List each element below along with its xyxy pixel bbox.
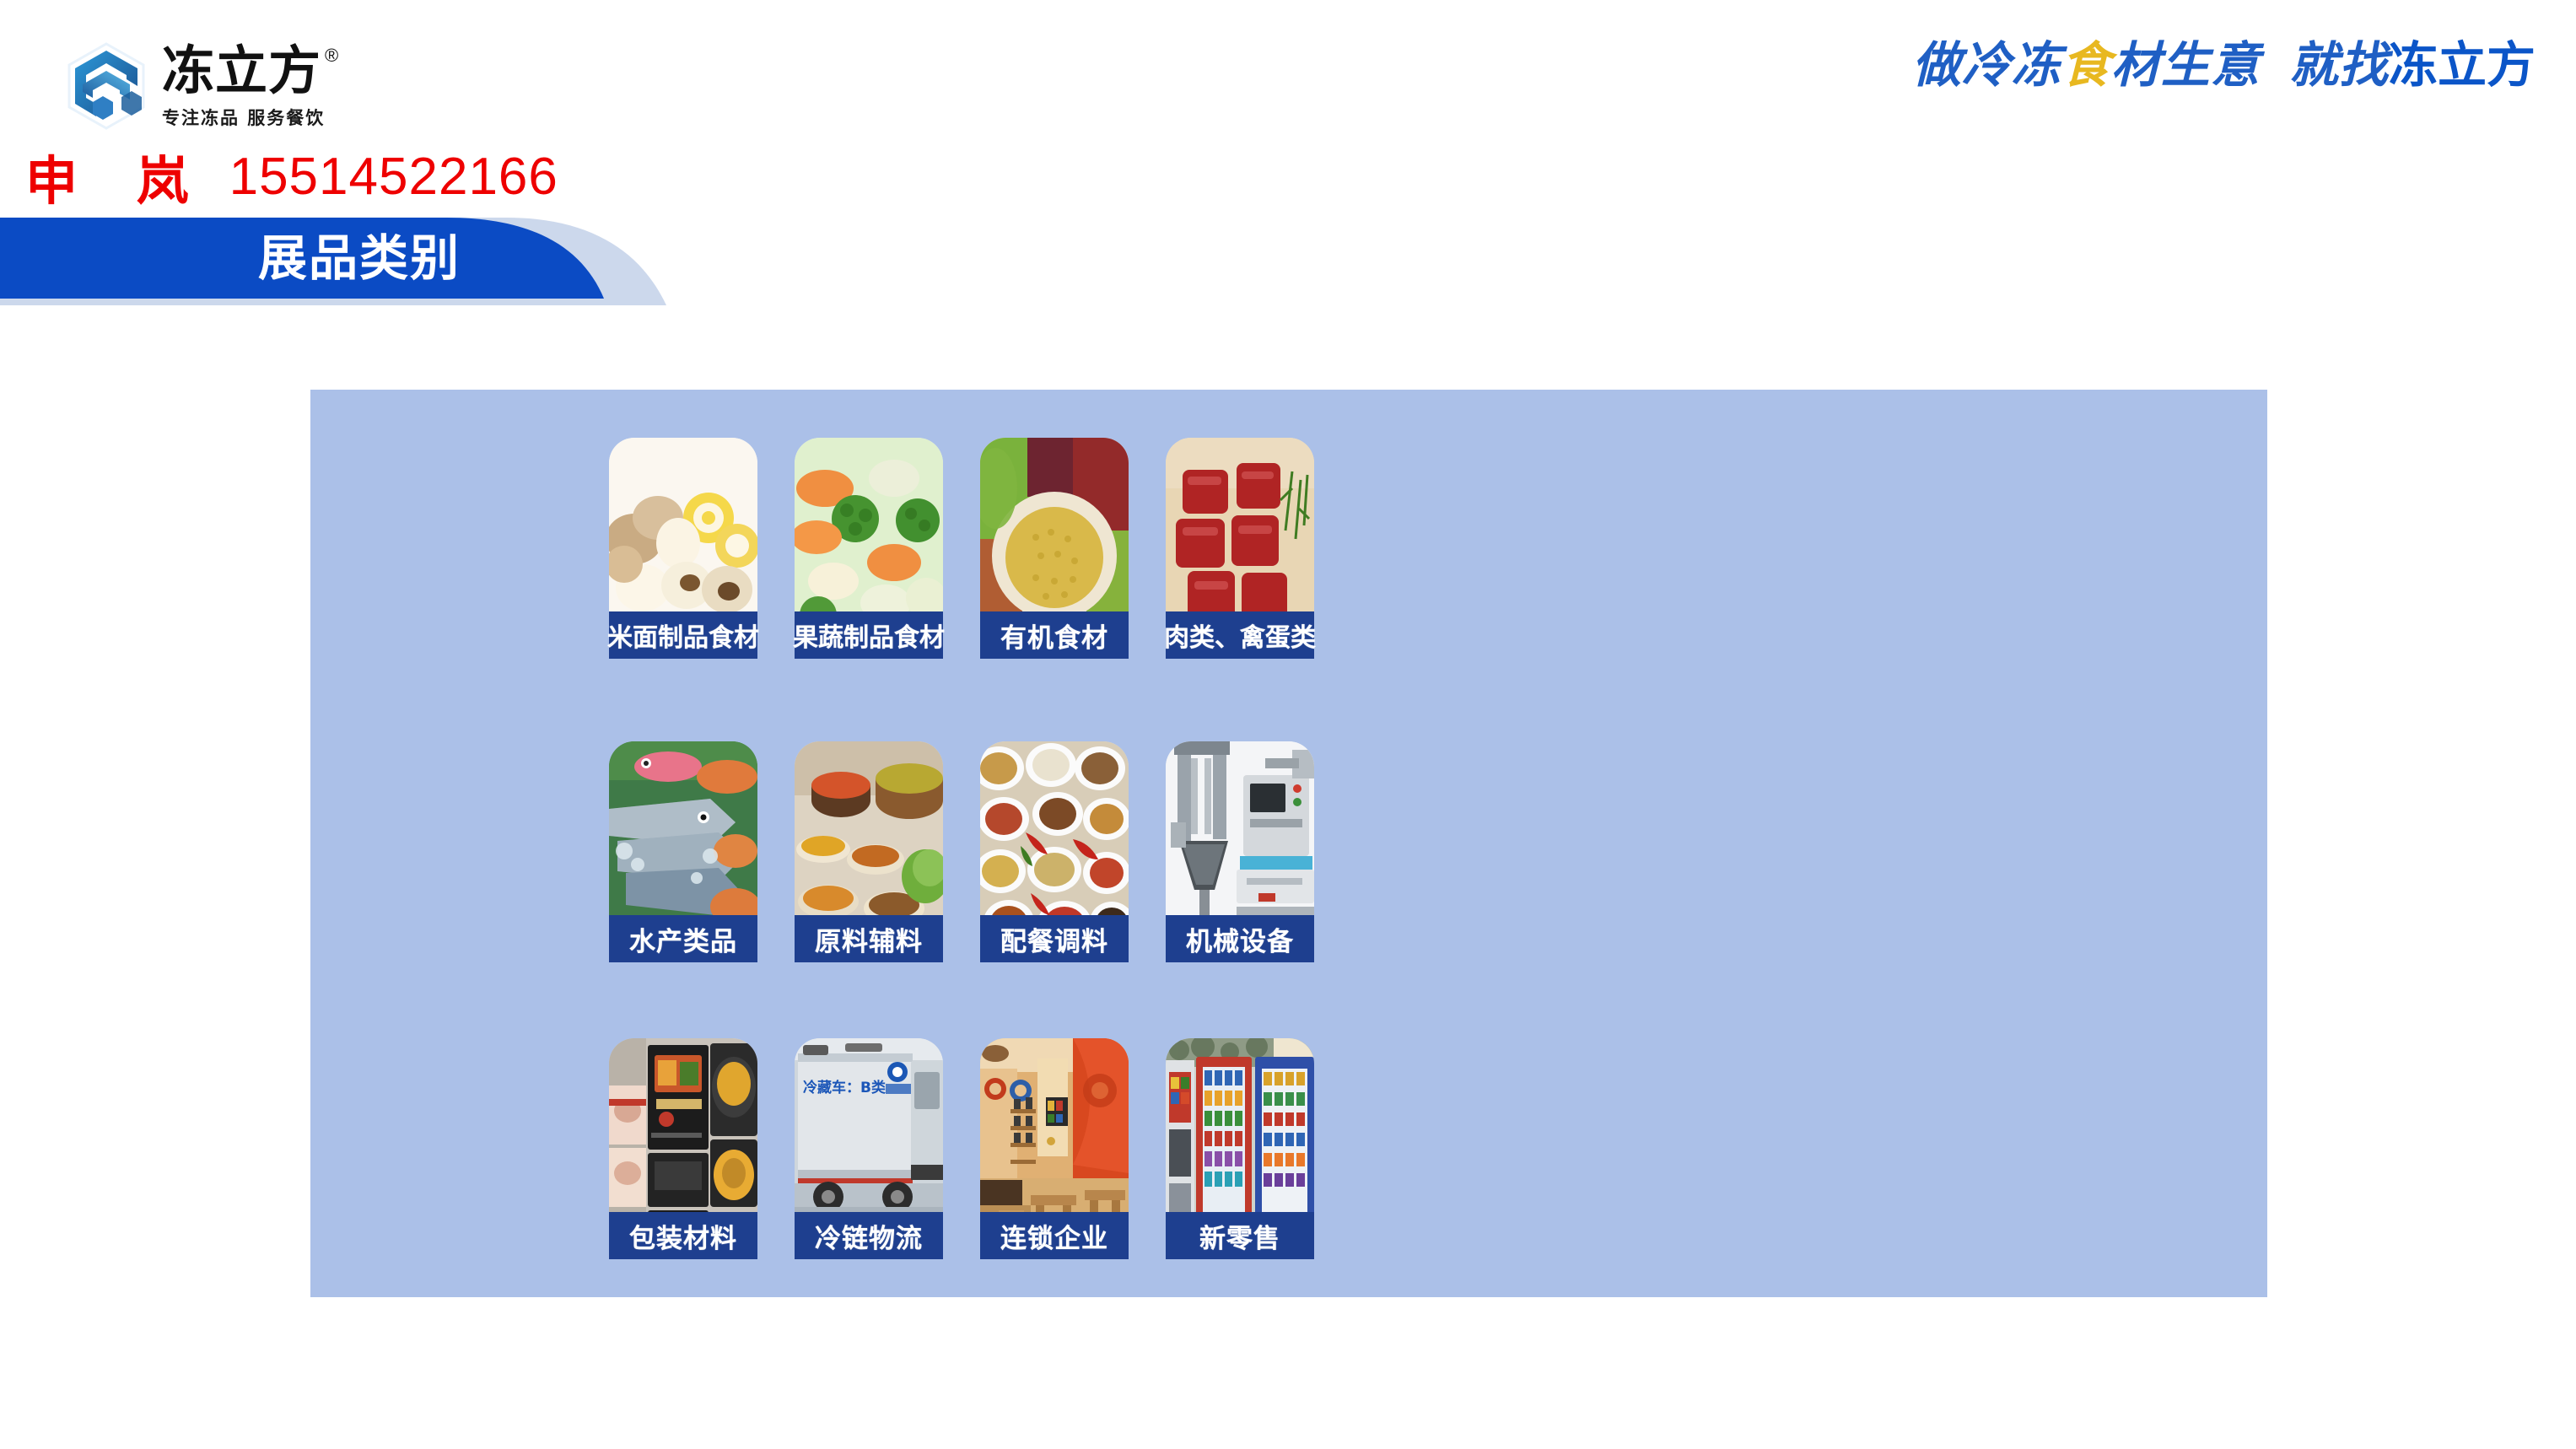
- category-card[interactable]: 配餐调料: [980, 741, 1129, 962]
- cube-logo-icon: [59, 39, 154, 133]
- category-card[interactable]: 冷藏车：B类 冷链物流: [795, 1038, 943, 1259]
- brand-logo[interactable]: 冻立方 ® 专注冻品 服务餐饮: [59, 39, 338, 133]
- category-label: 肉类、禽蛋类: [1166, 611, 1314, 659]
- category-label: 新零售: [1166, 1212, 1314, 1259]
- tagline-part1: 做冷冻: [1912, 25, 2061, 96]
- logo-wordmark: 冻立方: [162, 45, 321, 97]
- contact-phone: 15514522166: [229, 147, 558, 207]
- category-card[interactable]: 新零售: [1166, 1038, 1314, 1259]
- category-label: 配餐调料: [980, 915, 1129, 962]
- truck-side-text: 冷藏车：B类: [803, 1075, 886, 1096]
- category-label: 果蔬制品食材: [795, 611, 943, 659]
- category-label: 水产类品: [609, 915, 757, 962]
- category-label: 连锁企业: [980, 1212, 1129, 1259]
- section-banner: 展品类别: [0, 218, 692, 305]
- category-label: 机械设备: [1166, 915, 1314, 962]
- category-label: 冷链物流: [795, 1212, 943, 1259]
- contact-name: 申 岚: [25, 138, 209, 214]
- category-card[interactable]: 肉类、禽蛋类: [1166, 438, 1314, 659]
- brand-tagline: 做冷冻 食 材生意 就找 冻立方: [1912, 25, 2536, 96]
- category-card[interactable]: 有机食材: [980, 438, 1129, 659]
- category-card[interactable]: 果蔬制品食材: [795, 438, 943, 659]
- tagline-highlight: 食: [2061, 25, 2111, 96]
- logo-slogan: 专注冻品 服务餐饮: [162, 105, 338, 130]
- page-title: 展品类别: [258, 228, 461, 288]
- contact-info: 申 岚 15514522166: [25, 138, 558, 214]
- category-card[interactable]: 水产类品: [609, 741, 757, 962]
- category-label: 包装材料: [609, 1212, 757, 1259]
- category-label: 有机食材: [980, 611, 1129, 659]
- registered-mark: ®: [325, 46, 338, 65]
- category-card[interactable]: 包装材料: [609, 1038, 757, 1259]
- tagline-part3: 就找: [2289, 25, 2389, 96]
- category-label: 原料辅料: [795, 915, 943, 962]
- page-header: 冻立方 ® 专注冻品 服务餐饮 申 岚 15514522166 做冷冻 食 材生…: [0, 0, 2576, 211]
- tagline-brand: 冻立方: [2389, 25, 2536, 96]
- category-label: 米面制品食材: [609, 611, 757, 659]
- category-card[interactable]: 原料辅料: [795, 741, 943, 962]
- tagline-part2: 材生意: [2111, 25, 2261, 96]
- category-card[interactable]: 米面制品食材: [609, 438, 757, 659]
- category-card[interactable]: 机械设备: [1166, 741, 1314, 962]
- categories-panel: 米面制品食材: [310, 390, 2267, 1297]
- categories-grid: 米面制品食材: [609, 438, 1992, 1256]
- category-card[interactable]: 连锁企业: [980, 1038, 1129, 1259]
